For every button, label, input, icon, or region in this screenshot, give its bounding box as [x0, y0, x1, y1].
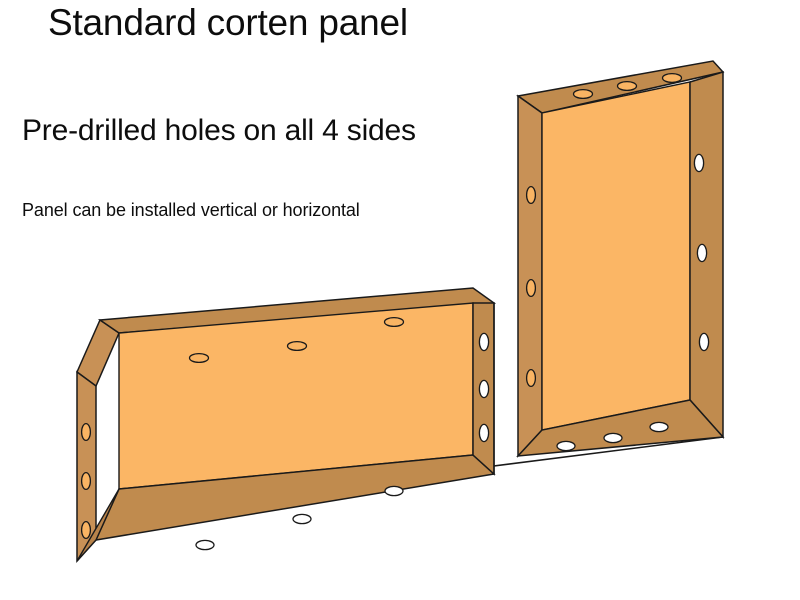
hole-top-2 [288, 342, 307, 351]
hole-right-3 [479, 424, 488, 441]
hole-top-3 [385, 318, 404, 327]
hole-bottom-3 [385, 486, 403, 495]
slide-canvas: Standard corten panel Pre-drilled holes … [0, 0, 800, 600]
vertical-panel [518, 61, 723, 456]
vertical-hole-bottom-3 [650, 422, 668, 431]
hole-left-3 [82, 522, 91, 539]
vertical-hole-left-2 [527, 280, 536, 297]
vertical-hole-left-1 [527, 187, 536, 204]
corten-panel-diagram [0, 0, 800, 600]
hole-left-1 [82, 424, 91, 441]
vertical-hole-right-2 [697, 244, 706, 261]
vertical-panel-left-rim [518, 96, 542, 456]
hole-right-1 [479, 333, 488, 350]
vertical-hole-top-1 [574, 90, 593, 99]
vertical-hole-left-3 [527, 370, 536, 387]
page-title: Standard corten panel [48, 2, 408, 44]
hole-top-1 [190, 354, 209, 363]
horizontal-panel [77, 288, 494, 561]
vertical-hole-top-3 [663, 74, 682, 83]
vertical-hole-bottom-2 [604, 433, 622, 442]
vertical-hole-top-2 [618, 82, 637, 91]
note-text: Panel can be installed vertical or horiz… [22, 200, 360, 221]
vertical-hole-right-1 [694, 154, 703, 171]
hole-bottom-2 [293, 514, 311, 523]
subtitle-text: Pre-drilled holes on all 4 sides [22, 114, 416, 148]
hole-bottom-1 [196, 540, 214, 549]
hole-right-2 [479, 380, 488, 397]
hole-left-2 [82, 473, 91, 490]
vertical-hole-bottom-1 [557, 441, 575, 450]
vertical-panel-face [542, 82, 690, 430]
vertical-hole-right-3 [699, 333, 708, 350]
